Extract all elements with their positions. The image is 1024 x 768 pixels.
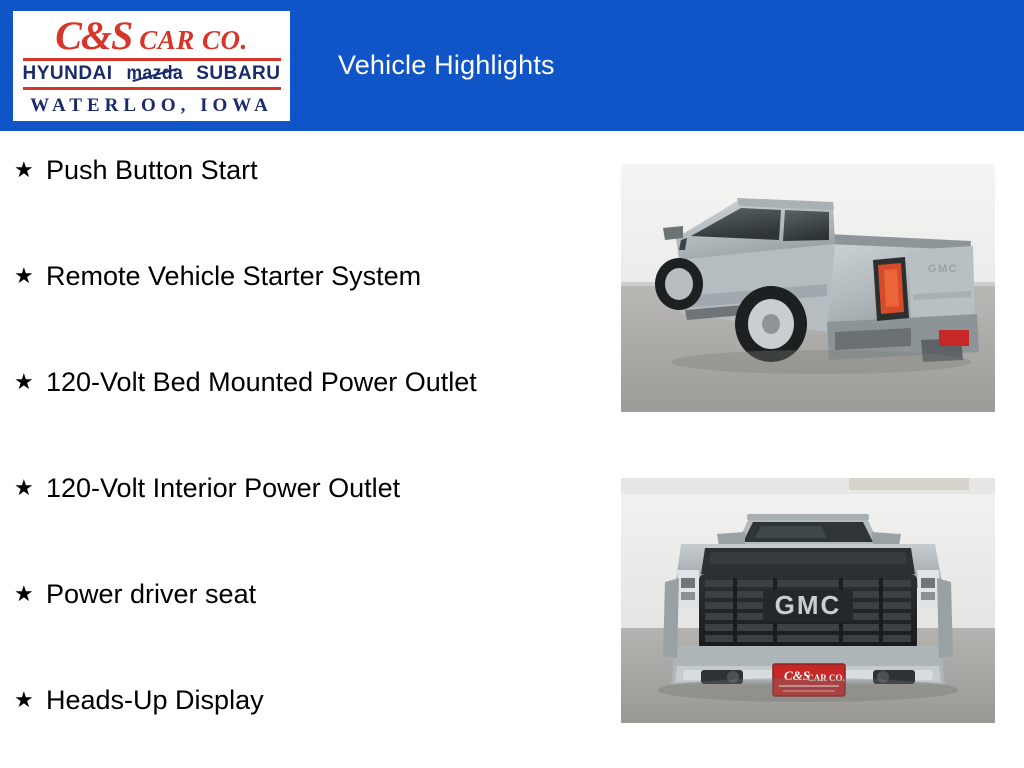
star-icon: ★ xyxy=(14,367,46,397)
logo-brand-mazda: mazda xyxy=(126,63,183,85)
logo-name-secondary: CAR CO. xyxy=(139,27,248,54)
list-item: ★ Push Button Start xyxy=(14,155,614,261)
vehicle-photo-front: GMC C&S CAR CO. xyxy=(621,478,995,723)
star-icon: ★ xyxy=(14,473,46,503)
list-item: ★ Remote Vehicle Starter System xyxy=(14,261,614,367)
page-title: Vehicle Highlights xyxy=(338,50,555,81)
highlight-label: Push Button Start xyxy=(46,155,258,185)
highlights-list: ★ Push Button Start ★ Remote Vehicle Sta… xyxy=(14,155,614,768)
logo-location: WATERLOO, IOWA xyxy=(30,95,273,117)
logo-brand-hyundai: HYUNDAI xyxy=(23,63,113,85)
list-item: ★ Heads-Up Display xyxy=(14,685,614,768)
star-icon: ★ xyxy=(14,579,46,609)
vehicle-photo-rear-quarter-graphic: GMC xyxy=(621,164,995,412)
dealer-logo: C&S CAR CO. HYUNDAI mazda SUBARU WATERLO… xyxy=(13,11,290,121)
highlight-label: 120-Volt Interior Power Outlet xyxy=(46,473,400,503)
highlight-label: Power driver seat xyxy=(46,579,256,609)
header-band: C&S CAR CO. HYUNDAI mazda SUBARU WATERLO… xyxy=(0,0,1024,131)
highlight-label: Heads-Up Display xyxy=(46,685,264,715)
slide-vehicle-highlights: C&S CAR CO. HYUNDAI mazda SUBARU WATERLO… xyxy=(0,0,1024,768)
vehicle-photo-front-graphic: GMC C&S CAR CO. xyxy=(621,478,995,723)
list-item: ★ Power driver seat xyxy=(14,579,614,685)
highlight-label: 120-Volt Bed Mounted Power Outlet xyxy=(46,367,477,397)
svg-text:GMC: GMC xyxy=(775,590,842,620)
logo-brand-subaru: SUBARU xyxy=(196,63,280,85)
logo-divider-top xyxy=(23,58,281,61)
star-icon: ★ xyxy=(14,155,46,185)
vehicle-photo-rear-quarter: GMC xyxy=(621,164,995,412)
star-icon: ★ xyxy=(14,685,46,715)
highlight-label: Remote Vehicle Starter System xyxy=(46,261,421,291)
list-item: ★ 120-Volt Bed Mounted Power Outlet xyxy=(14,367,614,473)
logo-name-primary: C&S xyxy=(55,16,132,56)
logo-wordmark: C&S CAR CO. xyxy=(55,16,248,56)
logo-divider-bottom xyxy=(23,87,281,90)
svg-text:GMC: GMC xyxy=(928,263,958,275)
list-item: ★ 120-Volt Interior Power Outlet xyxy=(14,473,614,579)
logo-brand-list: HYUNDAI mazda SUBARU xyxy=(23,63,281,85)
star-icon: ★ xyxy=(14,261,46,291)
